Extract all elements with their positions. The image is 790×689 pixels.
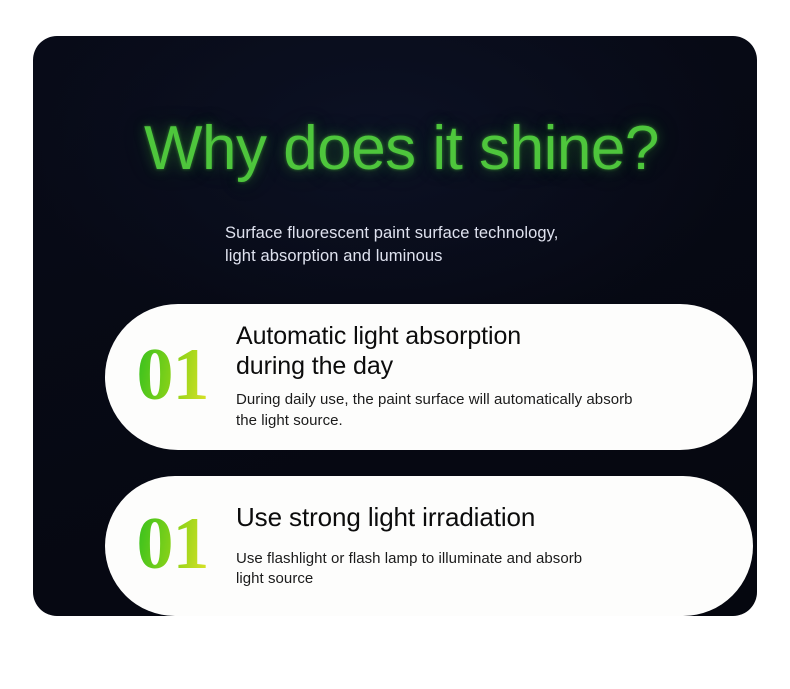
dark-panel: Why does it shine? Surface fluorescent p… bbox=[33, 36, 757, 616]
feature-card-2-text: Use flashlight or flash lamp to illumina… bbox=[236, 549, 713, 590]
feature-card-1-body: Automatic light absorption during the da… bbox=[236, 322, 753, 431]
feature-card-2-number: 01 bbox=[105, 507, 240, 585]
page-title: Why does it shine? bbox=[144, 118, 659, 180]
feature-card-1-text: During daily use, the paint surface will… bbox=[236, 390, 713, 431]
feature-card-2[interactable]: 01 Use strong light irradiation Use flas… bbox=[105, 476, 753, 616]
feature-card-2-body: Use strong light irradiation Use flashli… bbox=[236, 502, 753, 590]
feature-card-2-heading: Use strong light irradiation bbox=[236, 502, 713, 533]
page-subtitle: Surface fluorescent paint surface techno… bbox=[225, 222, 558, 269]
feature-card-1-heading: Automatic light absorption during the da… bbox=[236, 322, 713, 381]
feature-card-1-number: 01 bbox=[105, 338, 240, 416]
feature-card-1[interactable]: 01 Automatic light absorption during the… bbox=[105, 304, 753, 450]
